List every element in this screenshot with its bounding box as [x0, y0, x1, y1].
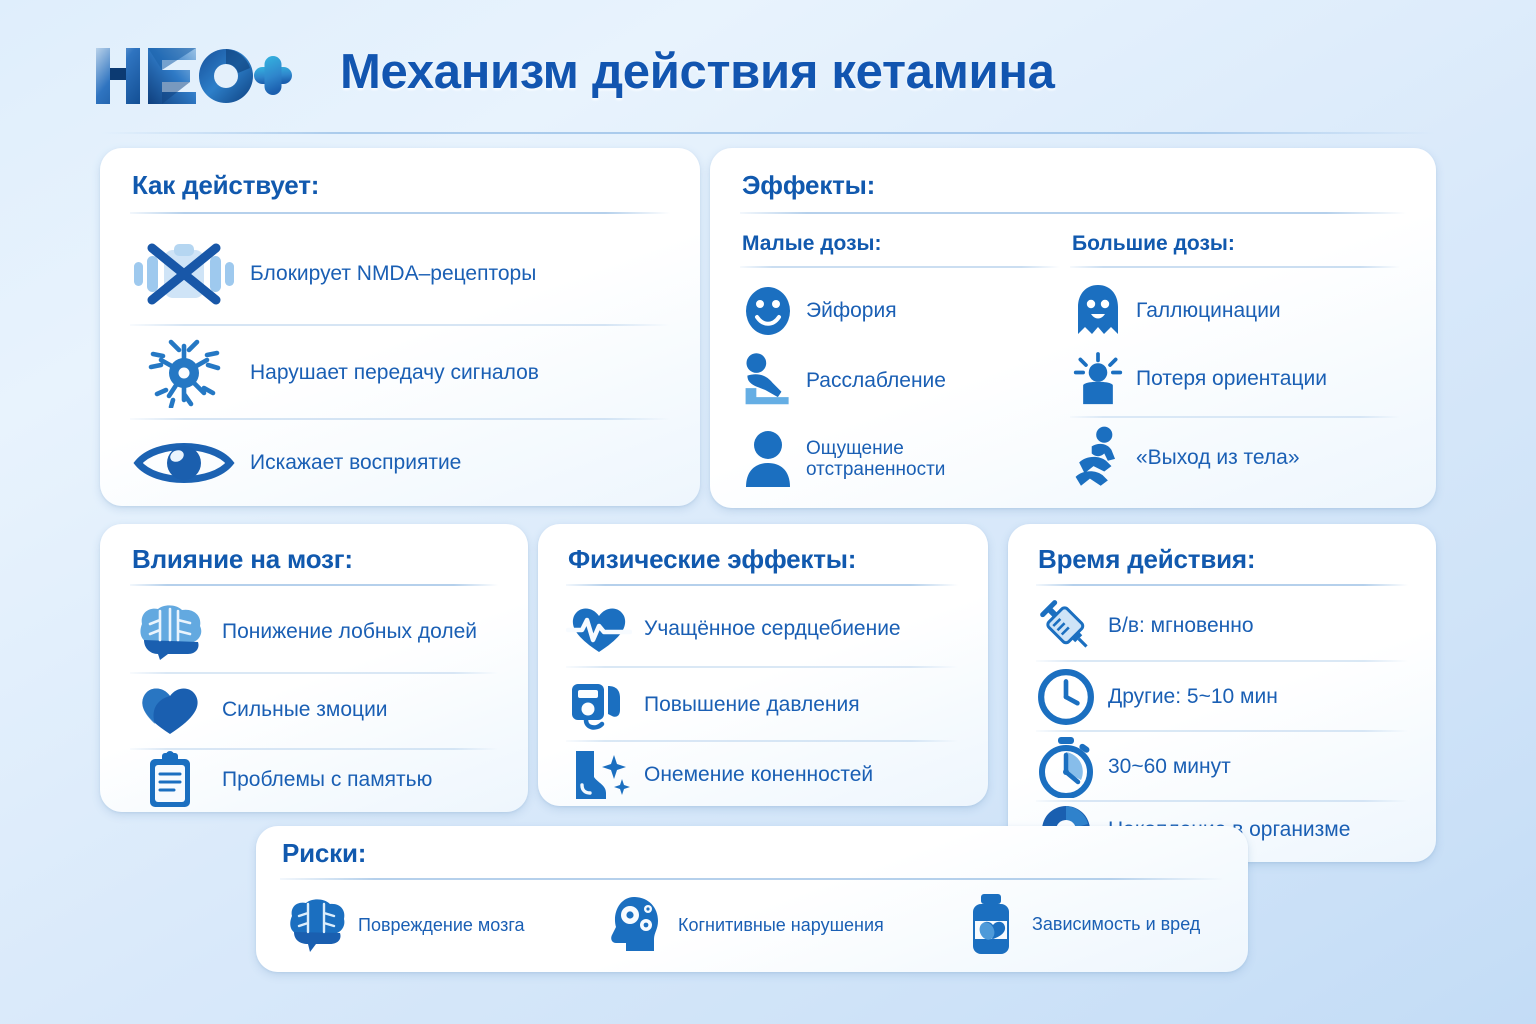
list-item: Потеря ориентации [1072, 346, 1412, 412]
divider [130, 324, 670, 326]
divider [740, 266, 1060, 268]
divider [740, 212, 1406, 214]
divider [280, 878, 1224, 880]
syringe-icon [1036, 595, 1096, 657]
list-item-label: Потеря ориентации [1136, 367, 1327, 391]
card-title-physical: Физические эффекты: [568, 544, 856, 575]
list-item-label: Нарушает передачу сигналов [250, 361, 539, 385]
list-item-label: Расслабление [806, 369, 946, 393]
header: Механизм действия кетамина [0, 0, 1536, 138]
card-duration: Время действия: [1008, 524, 1436, 862]
list-item: Сильные змоции [130, 676, 510, 744]
card-physical-effects: Физические эффекты: Учащённое сердцебиен… [538, 524, 988, 806]
card-title-effects: Эффекты: [742, 170, 875, 201]
list-item: Повреждение мозга [282, 886, 602, 964]
blood-pressure-monitor-icon [566, 676, 632, 734]
list-item-label: Эйфория [806, 299, 897, 323]
list-item-label: Сильные змоции [222, 698, 388, 722]
list-item: Эйфория [742, 280, 1072, 342]
divider [1070, 416, 1400, 418]
list-item-label: Проблемы с памятью [222, 768, 432, 792]
infographic-canvas: Механизм действия кетамина Как действует… [0, 0, 1536, 1024]
divider [130, 672, 498, 674]
brain-icon [130, 602, 210, 662]
card-title-risks: Риски: [282, 838, 366, 869]
floating-person-icon [1072, 423, 1124, 493]
divider [566, 666, 958, 668]
heartbeat-icon [566, 602, 632, 656]
card-brain-impact: Влияние на мозг: Понижение лобных долей [100, 524, 528, 812]
reclining-person-icon [742, 349, 794, 413]
clock-icon [1036, 668, 1096, 726]
list-item-label: 30~60 минут [1108, 755, 1231, 779]
head-gears-icon [602, 895, 666, 955]
list-item: Искажает восприятие [130, 426, 678, 500]
list-item-label: Онемение коненностей [644, 763, 873, 787]
clipboard-icon [130, 751, 210, 809]
list-item-label: Ощущение отстраненности [806, 438, 945, 481]
list-item: Нарушает передачу сигналов [130, 330, 678, 416]
divider [1036, 660, 1408, 662]
divider [566, 740, 958, 742]
card-title-brain: Влияние на мозг: [132, 544, 353, 575]
divider [1036, 730, 1408, 732]
header-divider [100, 132, 1436, 134]
list-item: Другие: 5~10 мин [1036, 666, 1422, 728]
pill-bottle-icon [962, 893, 1020, 955]
list-item: Онемение коненностей [566, 746, 976, 804]
list-item: Повышение давления [566, 672, 976, 738]
list-item: Когнитивные нарушения [602, 886, 962, 964]
list-item: Зависимость и вред [962, 884, 1242, 964]
numb-foot-icon [566, 747, 632, 803]
card-title-how: Как действует: [132, 170, 319, 201]
divider [130, 418, 670, 420]
list-item: 30~60 минут [1036, 734, 1422, 800]
list-item: Галлюцинации [1072, 280, 1412, 342]
list-item-label: «Выход из тела» [1136, 446, 1300, 470]
card-title-time: Время действия: [1038, 544, 1255, 575]
ghost-icon [1072, 282, 1124, 340]
card-how-it-works: Как действует: [100, 148, 700, 506]
divider [1070, 266, 1400, 268]
list-item-label: Зависимость и вред [1032, 914, 1200, 934]
card-risks: Риски: Повреждение мозга [256, 826, 1248, 972]
dizzy-person-icon [1072, 350, 1124, 408]
list-item: В/в: мгновенно [1036, 594, 1422, 658]
list-item-label: Галлюцинации [1136, 299, 1281, 323]
list-item: Блокирует NMDA–рецепторы [130, 230, 678, 318]
neuron-icon [130, 338, 238, 408]
list-item-label: Блокирует NMDA–рецепторы [250, 262, 536, 286]
divider [130, 748, 498, 750]
heart-icon [130, 682, 210, 738]
list-item-label: В/в: мгновенно [1108, 614, 1254, 638]
list-item: Расслабление [742, 346, 1072, 416]
list-item-label: Когнитивные нарушения [678, 915, 884, 935]
page-title: Механизм действия кетамина [340, 44, 1055, 100]
list-item: Понижение лобных долей [130, 596, 510, 668]
list-item-label: Понижение лобных долей [222, 620, 477, 644]
divider [130, 584, 498, 586]
list-item-label: Учащённое сердцебиение [644, 617, 901, 641]
divider [566, 584, 958, 586]
list-item-label: Повышение давления [644, 693, 860, 717]
blocked-receptor-icon [130, 242, 238, 306]
subtitle-high-doses: Большие дозы: [1072, 232, 1235, 256]
eye-icon [130, 433, 238, 493]
list-item-label: Повреждение мозга [358, 915, 525, 935]
subtitle-low-doses: Малые дозы: [742, 232, 881, 256]
neo-plus-logo [92, 40, 292, 112]
list-item: Ощущение отстраненности [742, 422, 1072, 496]
divider [130, 212, 670, 214]
list-item: Учащённое сердцебиение [566, 596, 976, 662]
divider [1036, 584, 1408, 586]
list-item: «Выход из тела» [1072, 420, 1412, 496]
person-silhouette-icon [742, 429, 794, 489]
brain-damage-icon [282, 896, 346, 954]
list-item-label: Другие: 5~10 мин [1108, 685, 1278, 709]
list-item-label: Искажает восприятие [250, 451, 461, 475]
card-effects: Эффекты: Малые дозы: Эйфория [710, 148, 1436, 508]
list-item: Проблемы с памятью [130, 752, 510, 808]
stopwatch-icon [1036, 736, 1096, 798]
smiley-face-icon [742, 284, 794, 338]
